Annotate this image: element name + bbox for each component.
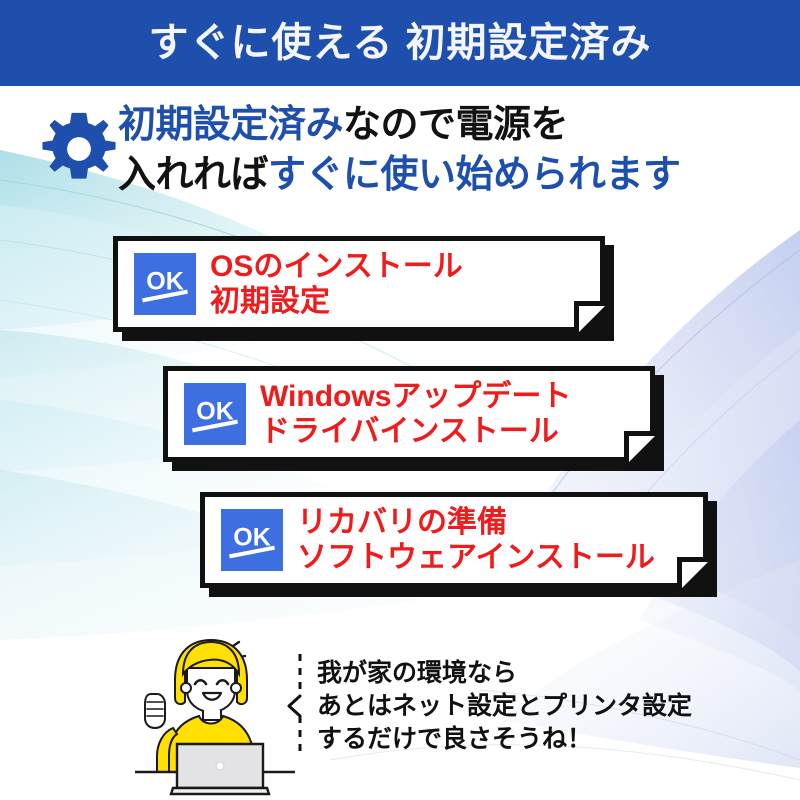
checklist-item-2-text: Windowsアップデート ドライバインストール <box>260 379 571 449</box>
checklist-item-1-text: OSのインストール 初期設定 <box>210 249 463 319</box>
headline-section: 初期設定済みなので電源を 入れればすぐに使い始められます <box>0 100 800 210</box>
speech-line-2: あとはネット設定とプリンタ設定 <box>317 690 692 723</box>
checklist-item-3-line2: ソフトウェアインストール <box>297 540 655 575</box>
checklist-item-1-line2: 初期設定 <box>210 284 463 319</box>
headline-text: 初期設定済みなので電源を 入れればすぐに使い始められます <box>118 100 798 200</box>
checklist-item-2-line2: ドライバインストール <box>260 414 571 449</box>
checklist-item-3: OK リカバリの準備 ソフトウェアインストール <box>200 492 708 588</box>
speech-bracket-icon <box>287 652 309 760</box>
headline-line2-rest: 入れれば <box>118 154 268 196</box>
checklist-item-1: OK OSのインストール 初期設定 <box>113 236 605 332</box>
fist <box>145 694 165 728</box>
checklist-item-3-text: リカバリの準備 ソフトウェアインストール <box>297 505 655 575</box>
checklist-item-1-line1: OSのインストール <box>210 249 463 284</box>
headline-line1-rest: なので電源を <box>343 104 568 146</box>
corner-fold-icon <box>624 431 655 462</box>
corner-fold-icon <box>574 301 605 332</box>
speech-text: 我が家の環境なら あとはネット設定とプリンタ設定 するだけで良さそうね！ <box>317 657 692 756</box>
checklist-item-2: OK Windowsアップデート ドライバインストール <box>163 366 655 462</box>
headline-line-1: 初期設定済みなので電源を <box>118 100 798 150</box>
woman-with-laptop-illustration <box>135 632 295 797</box>
corner-fold-icon <box>677 557 708 588</box>
header-banner: すぐに使える 初期設定済み <box>0 0 800 86</box>
poster-canvas: すぐに使える 初期設定済み 初期設定済みなので電源を 入れればすぐに使い始められ… <box>0 0 800 800</box>
ok-badge-1: OK <box>134 253 196 315</box>
header-title: すぐに使える 初期設定済み <box>149 23 652 63</box>
ok-badge-3: OK <box>221 509 283 571</box>
headline-line-2: 入れればすぐに使い始められます <box>118 150 798 200</box>
ok-badge-2: OK <box>184 383 246 445</box>
face <box>187 668 235 712</box>
checklist-item-2-line1: Windowsアップデート <box>260 379 571 414</box>
speech-line-3: するだけで良さそうね！ <box>317 723 692 756</box>
headline-line1-highlight: 初期設定済み <box>118 104 343 146</box>
laptop-icon <box>171 744 269 794</box>
gear-icon <box>38 108 120 190</box>
speech-block: 我が家の環境なら あとはネット設定とプリンタ設定 するだけで良さそうね！ <box>287 652 692 760</box>
checklist-item-3-line1: リカバリの準備 <box>297 505 655 540</box>
speech-line-1: 我が家の環境なら <box>317 657 692 690</box>
headline-line2-highlight: すぐに使い始められます <box>268 154 681 196</box>
